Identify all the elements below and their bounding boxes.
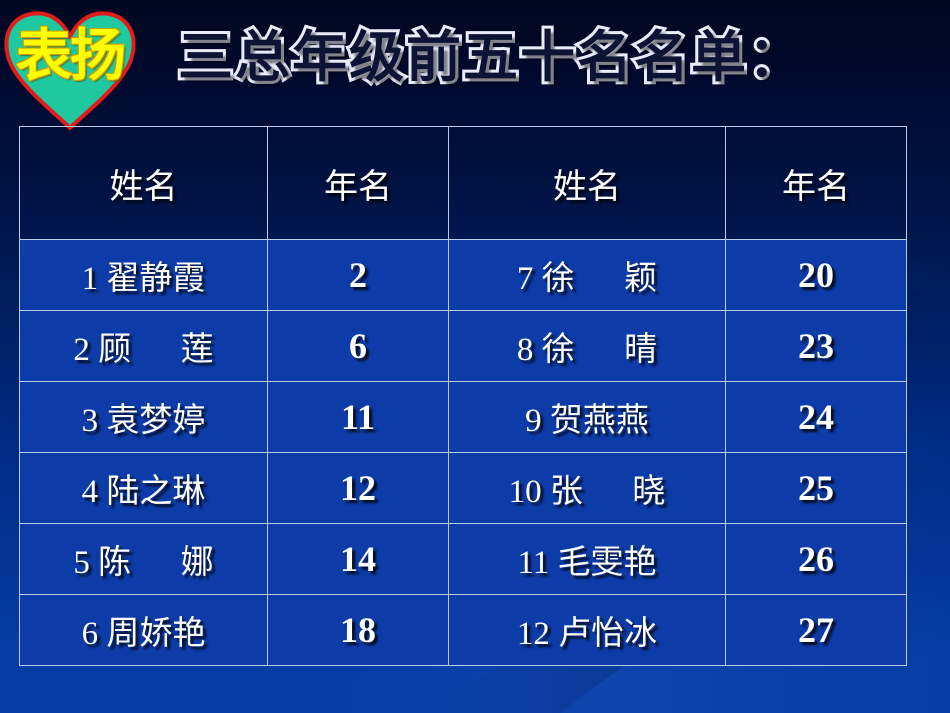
- cell-name-left: 3 袁梦婷: [20, 382, 268, 453]
- cell-name-right: 12 卢怡冰: [449, 595, 726, 666]
- cell-rank-left: 2: [268, 240, 449, 311]
- column-header-rank-left: 年名: [268, 127, 449, 240]
- cell-name-right: 7 徐 颖: [449, 240, 726, 311]
- table-header-row: 姓名 年名 姓名 年名: [20, 127, 907, 240]
- column-header-name-left: 姓名: [20, 127, 268, 240]
- slide-canvas: 表扬 三总年级前五十名名单： 姓名 年名 姓名 年名 1 翟静霞 2 7 徐 颖…: [0, 0, 950, 713]
- cell-name-right: 9 贺燕燕: [449, 382, 726, 453]
- cell-rank-right: 24: [726, 382, 907, 453]
- cell-name-left: 5 陈 娜: [20, 524, 268, 595]
- cell-rank-right: 20: [726, 240, 907, 311]
- cell-rank-right: 23: [726, 311, 907, 382]
- table-body: 1 翟静霞 2 7 徐 颖 20 2 顾 莲 6 8 徐 晴 23 3 袁梦婷 …: [20, 240, 907, 666]
- column-header-rank-right: 年名: [726, 127, 907, 240]
- cell-rank-left: 6: [268, 311, 449, 382]
- cell-name-left: 1 翟静霞: [20, 240, 268, 311]
- cell-rank-left: 12: [268, 453, 449, 524]
- cell-rank-left: 14: [268, 524, 449, 595]
- cell-rank-right: 26: [726, 524, 907, 595]
- cell-name-left: 4 陆之琳: [20, 453, 268, 524]
- cell-rank-right: 25: [726, 453, 907, 524]
- table-row: 3 袁梦婷 11 9 贺燕燕 24: [20, 382, 907, 453]
- table-row: 6 周娇艳 18 12 卢怡冰 27: [20, 595, 907, 666]
- table-row: 4 陆之琳 12 10 张 晓 25: [20, 453, 907, 524]
- praise-badge-label: 表扬: [2, 26, 138, 88]
- cell-name-right: 8 徐 晴: [449, 311, 726, 382]
- cell-name-left: 6 周娇艳: [20, 595, 268, 666]
- cell-name-left: 2 顾 莲: [20, 311, 268, 382]
- cell-name-right: 11 毛雯艳: [449, 524, 726, 595]
- praise-heart-badge: 表扬: [2, 8, 138, 132]
- table-row: 1 翟静霞 2 7 徐 颖 20: [20, 240, 907, 311]
- cell-rank-left: 11: [268, 382, 449, 453]
- table-row: 2 顾 莲 6 8 徐 晴 23: [20, 311, 907, 382]
- table-row: 5 陈 娜 14 11 毛雯艳 26: [20, 524, 907, 595]
- page-title: 三总年级前五十名名单：: [178, 26, 878, 88]
- cell-rank-right: 27: [726, 595, 907, 666]
- cell-name-right: 10 张 晓: [449, 453, 726, 524]
- table-header: 姓名 年名 姓名 年名: [20, 127, 907, 240]
- column-header-name-right: 姓名: [449, 127, 726, 240]
- top-students-table: 姓名 年名 姓名 年名 1 翟静霞 2 7 徐 颖 20 2 顾 莲 6 8 徐…: [19, 126, 907, 666]
- cell-rank-left: 18: [268, 595, 449, 666]
